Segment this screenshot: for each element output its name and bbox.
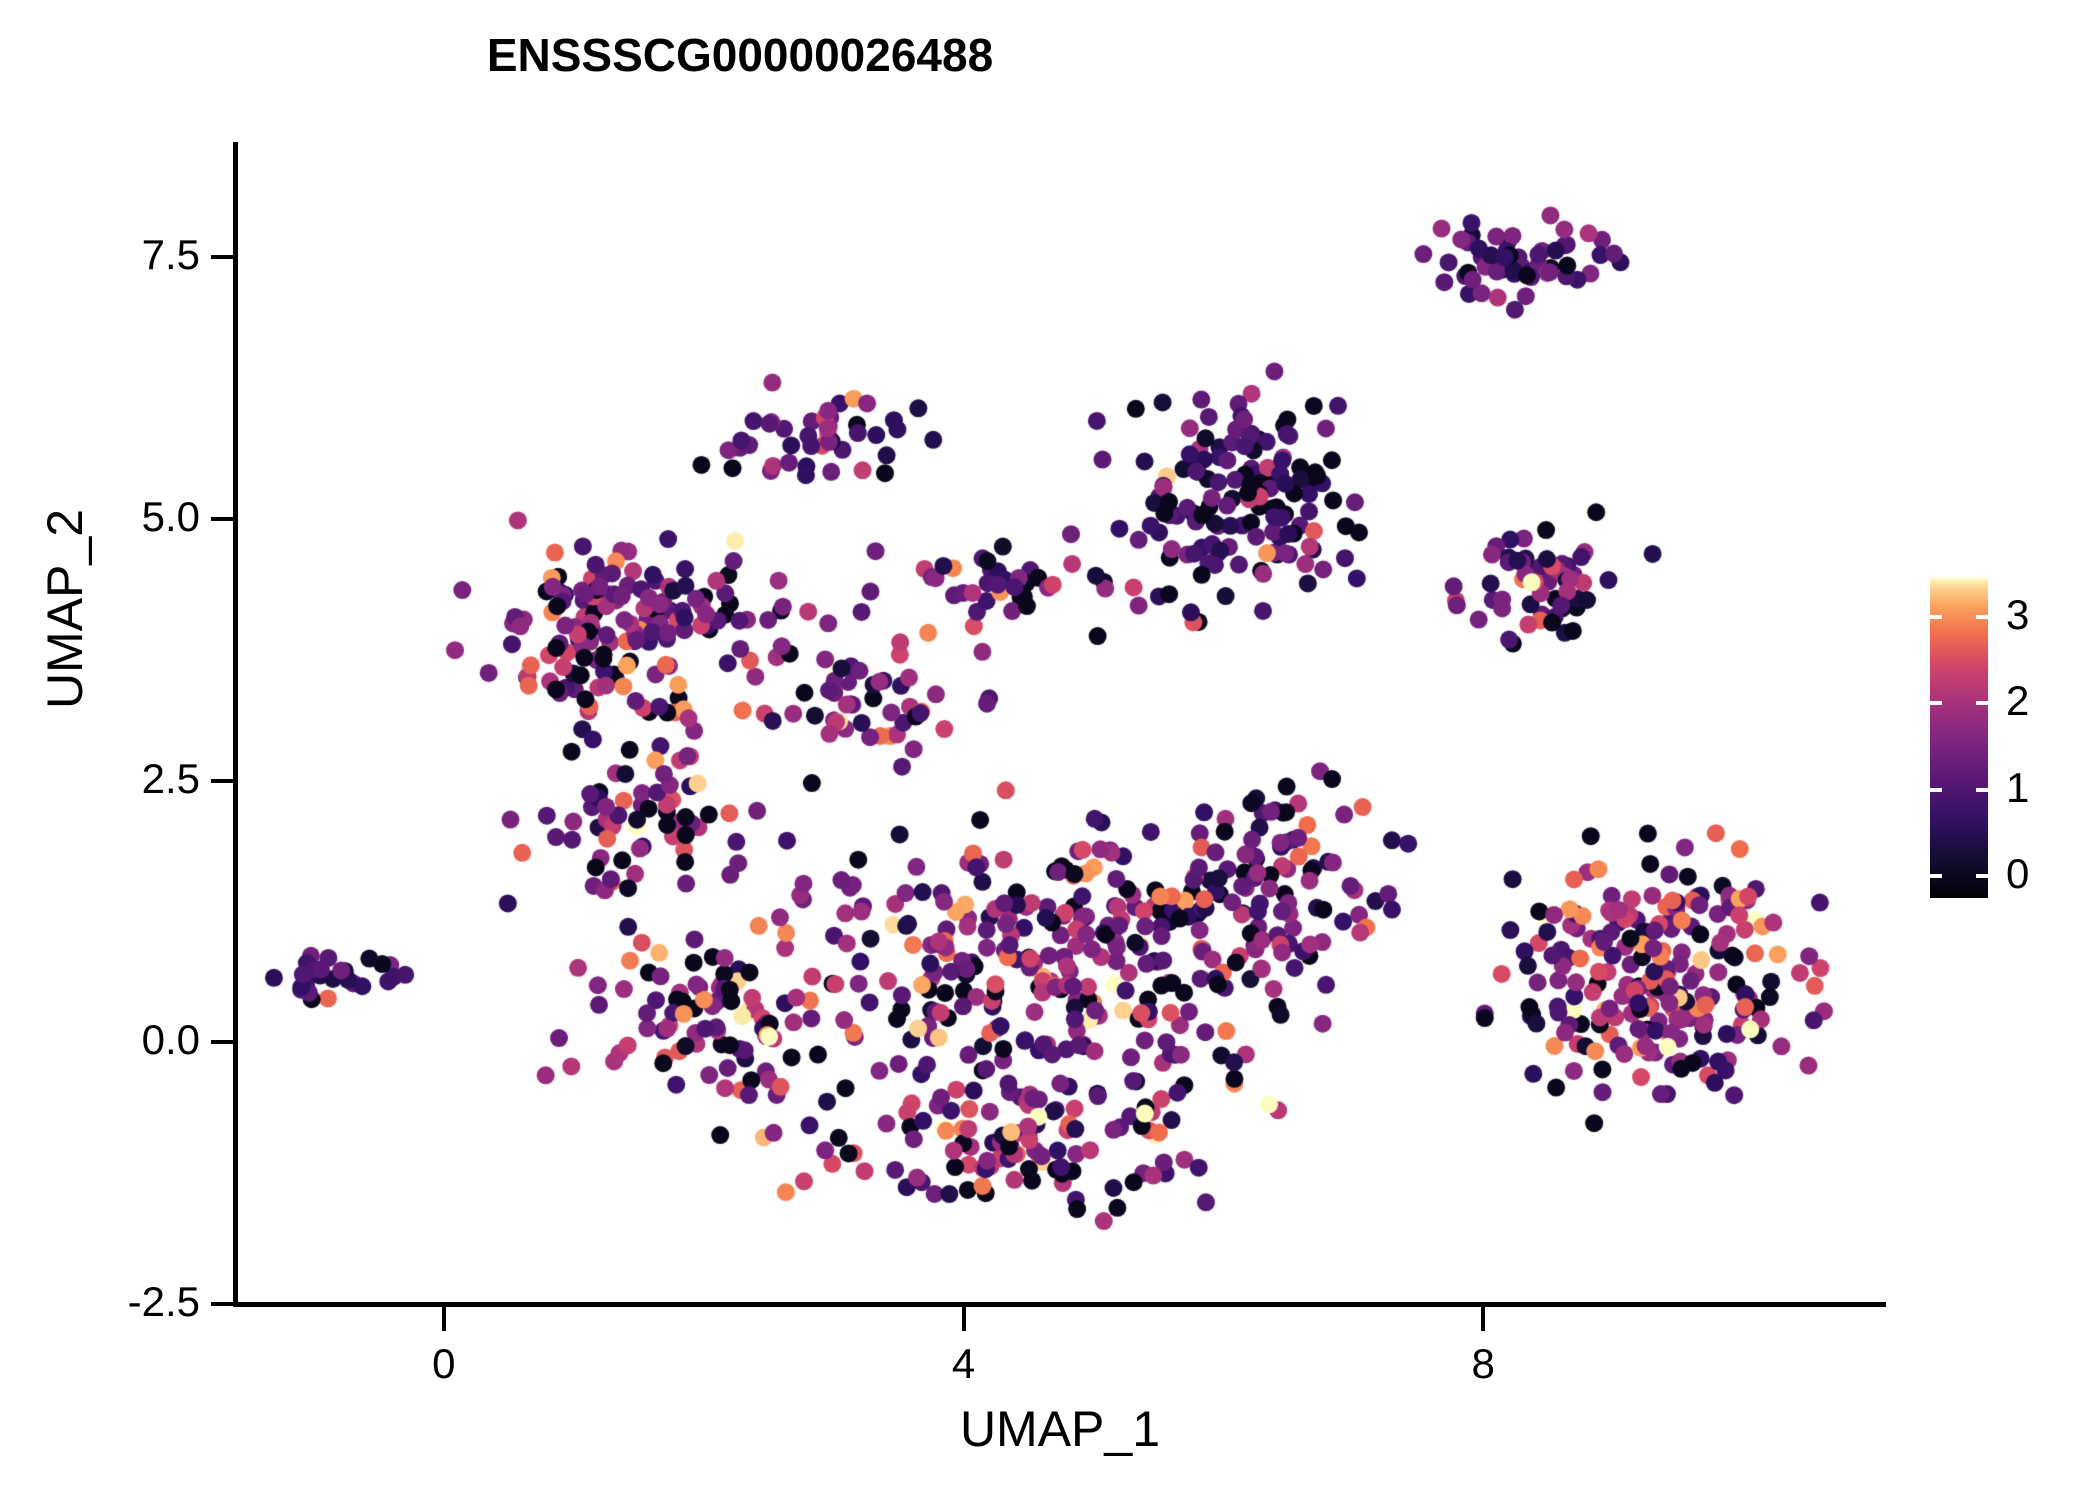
colorbar-tick-label: 1 xyxy=(2006,764,2029,812)
colorbar-tick-mark xyxy=(1930,788,1942,792)
y-tick-label: 0.0 xyxy=(0,1016,200,1064)
colorbar-tick-mark xyxy=(1976,788,1988,792)
page-title: ENSSSCG00000026488 xyxy=(0,28,1480,82)
colorbar-tick-mark xyxy=(1976,701,1988,705)
colorbar-tick-mark xyxy=(1976,874,1988,878)
x-tick-label: 4 xyxy=(864,1340,1064,1388)
x-tick-label: 0 xyxy=(344,1340,544,1388)
x-axis-line xyxy=(233,1302,1886,1307)
x-tick-mark xyxy=(1481,1307,1485,1331)
x-tick-label: 8 xyxy=(1383,1340,1583,1388)
colorbar-tick-mark xyxy=(1930,874,1942,878)
figure-root: ENSSSCG00000026488 7.55.02.50.0-2.5 048 … xyxy=(0,0,2100,1500)
colorbar-gradient xyxy=(1930,578,1988,898)
y-tick-mark xyxy=(211,255,235,259)
y-axis-title: UMAP_2 xyxy=(36,329,94,889)
colorbar-tick-mark xyxy=(1930,701,1942,705)
x-tick-mark xyxy=(442,1307,446,1331)
colorbar-tick-mark xyxy=(1930,615,1942,619)
plot-panel xyxy=(236,142,1886,1304)
y-tick-mark xyxy=(211,779,235,783)
y-tick-mark xyxy=(211,517,235,521)
y-tick-label: 2.5 xyxy=(0,755,200,803)
colorbar-tick-label: 0 xyxy=(2006,850,2029,898)
y-tick-mark xyxy=(211,1040,235,1044)
x-axis-title: UMAP_1 xyxy=(560,1400,1560,1458)
y-tick-label: 5.0 xyxy=(0,493,200,541)
y-tick-label: -2.5 xyxy=(0,1278,200,1326)
x-tick-mark xyxy=(962,1307,966,1331)
y-tick-label: 7.5 xyxy=(0,231,200,279)
colorbar-tick-mark xyxy=(1976,615,1988,619)
colorbar-tick-label: 2 xyxy=(2006,677,2029,725)
y-tick-mark xyxy=(211,1302,235,1306)
colorbar-tick-label: 3 xyxy=(2006,591,2029,639)
y-axis-line xyxy=(233,142,238,1306)
scatter-points-canvas xyxy=(236,142,1886,1304)
